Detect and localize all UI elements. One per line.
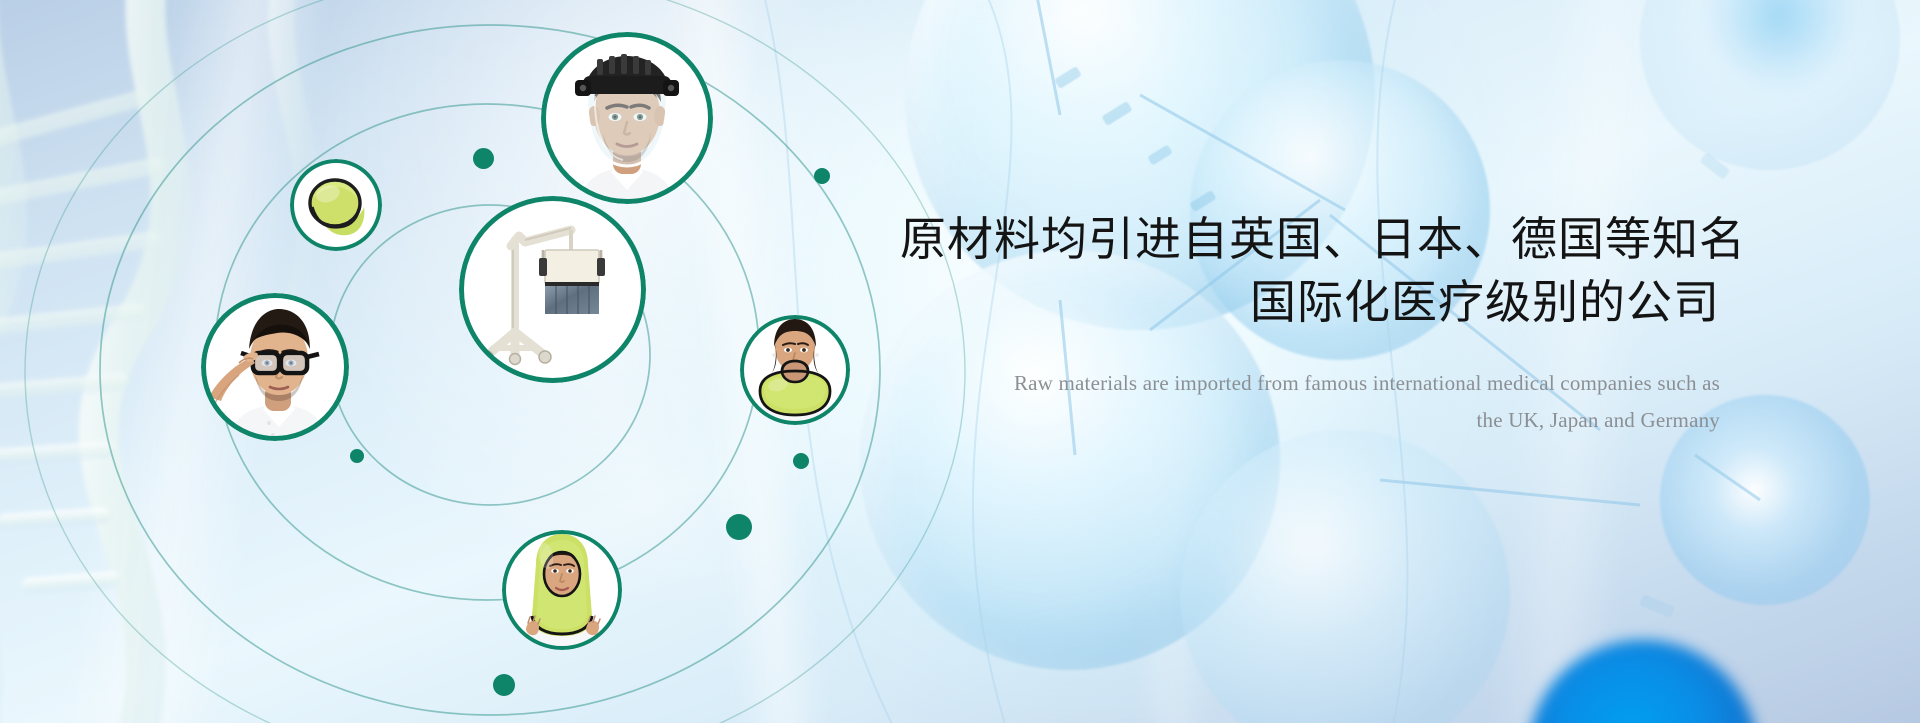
subtitle-line-2: the UK, Japan and Germany [900, 402, 1720, 439]
orbit-dot-4 [793, 453, 809, 469]
radiation-protection-cap-image [290, 159, 382, 251]
headline-text-block: 原材料均引进自英国、日本、德国等知名 国际化医疗级别的公司 Raw materi… [900, 208, 1720, 438]
product-circle-thyroid-collar[interactable] [740, 315, 850, 425]
hero-banner: 原材料均引进自英国、日本、德国等知名 国际化医疗级别的公司 Raw materi… [0, 0, 1920, 723]
product-circle-mobile-x-ray-shield-stand[interactable] [459, 196, 646, 383]
orbit-dot-6 [493, 674, 515, 696]
orbit-dot-5 [726, 514, 752, 540]
subtitle: Raw materials are imported from famous i… [900, 365, 1720, 439]
product-circle-radiation-protection-cap[interactable] [290, 159, 382, 251]
orbit-dot-2 [814, 168, 830, 184]
product-circle-doctor-with-lead-glasses[interactable] [201, 293, 349, 441]
orbit-dot-1 [473, 148, 494, 169]
product-circle-doctor-with-face-shield[interactable] [541, 32, 713, 204]
doctor-with-lead-glasses-image [201, 293, 349, 441]
radiation-protection-hood-image [502, 530, 622, 650]
doctor-with-face-shield-image [541, 32, 713, 204]
headline-line-2: 国际化医疗级别的公司 [900, 271, 1720, 334]
mobile-x-ray-shield-stand-image [459, 196, 646, 383]
orbit-dot-3 [350, 449, 364, 463]
headline: 原材料均引进自英国、日本、德国等知名 国际化医疗级别的公司 [900, 208, 1720, 335]
subtitle-line-1: Raw materials are imported from famous i… [900, 365, 1720, 402]
product-circle-radiation-protection-hood[interactable] [502, 530, 622, 650]
headline-line-1: 原材料均引进自英国、日本、德国等知名 [900, 213, 1746, 265]
thyroid-collar-image [740, 315, 850, 425]
